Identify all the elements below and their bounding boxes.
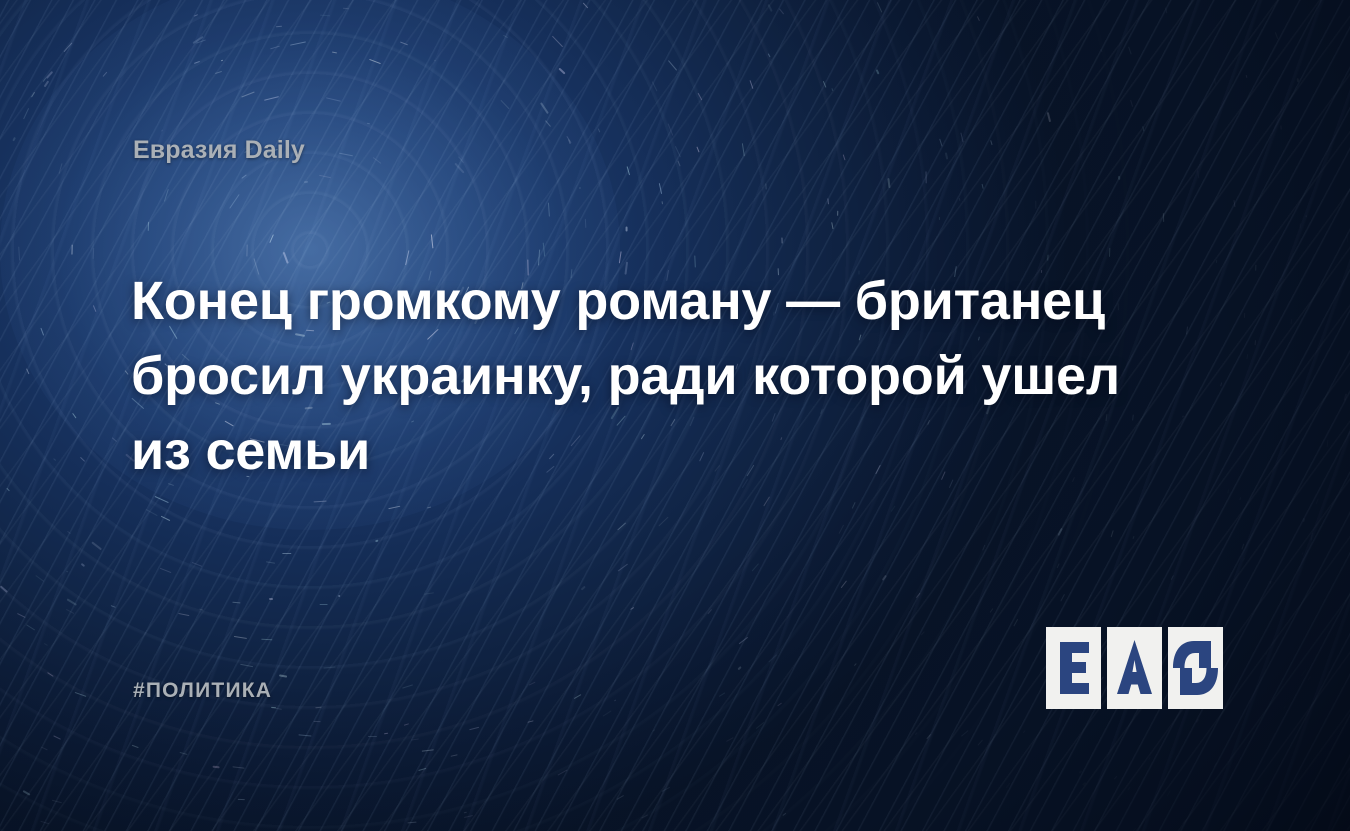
- card-content: Евразия Daily Конец громкому роману — бр…: [0, 0, 1350, 831]
- news-cover-card: Евразия Daily Конец громкому роману — бр…: [0, 0, 1350, 831]
- logo-d-lower-half: [1168, 668, 1223, 709]
- eadaily-logo: [1046, 627, 1222, 709]
- category-hashtag: #ПОЛИТИКА: [133, 679, 272, 703]
- logo-letter-e-tile: [1046, 627, 1101, 709]
- logo-d-upper-half: [1168, 627, 1223, 668]
- headline-title: Конец громкому роману — британец бросил …: [131, 264, 1141, 489]
- brand-name: Евразия Daily: [133, 136, 305, 165]
- logo-letter-d-tile: [1168, 627, 1223, 709]
- logo-letter-a-tile: [1107, 627, 1162, 709]
